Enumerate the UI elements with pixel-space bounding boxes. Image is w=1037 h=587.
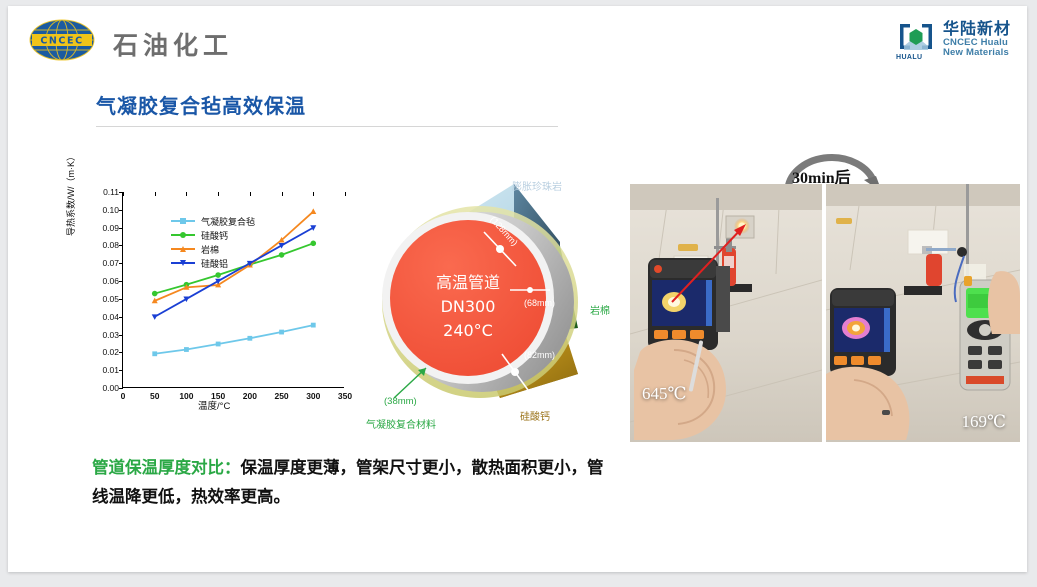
chart-data-point (152, 351, 157, 356)
chart-y-tick: 0.06 (102, 276, 119, 286)
pipe-core-line1: 高温管道 (436, 273, 500, 292)
chart-x-tick: 300 (306, 391, 320, 401)
chart-legend-label: 硅酸钙 (201, 229, 228, 242)
chart-data-point (152, 291, 158, 297)
cncec-logo-icon: CNCEC (26, 18, 98, 62)
caption-highlight: 管道保温厚度对比： (92, 459, 241, 477)
chart-x-tick: 100 (179, 391, 193, 401)
thermal-conductivity-chart: 导热系数/W/（m·K） 温度/°C 0.000.010.020.030.040… (70, 182, 358, 416)
chart-x-tick: 200 (243, 391, 257, 401)
chart-x-tick: 150 (211, 391, 225, 401)
chart-data-point (310, 208, 316, 214)
chart-legend-item: 硅酸铝 (171, 256, 255, 270)
chart-legend-label: 岩棉 (201, 243, 219, 256)
title-divider (96, 126, 558, 127)
cncec-wordmark: 石油化工 (113, 26, 233, 62)
chart-legend-swatch (171, 262, 195, 264)
chart-y-tickmark (119, 388, 123, 389)
chart-legend-swatch (171, 220, 195, 222)
layer-label-perlite: 膨胀珍珠岩 (512, 178, 562, 193)
temp-reading-after: 169℃ (961, 412, 1006, 432)
pipe-insulation-diagram: 高温管道 DN300 240°C 膨胀珍珠岩 (128mm) 岩棉 (68mm) (364, 168, 626, 430)
chart-x-tickmark (345, 192, 346, 196)
pipe-core-line3: 240°C (443, 321, 493, 340)
chart-x-tick: 0 (121, 391, 126, 401)
thermal-photo-pair: 645℃ (630, 184, 1020, 442)
svg-text:CNCEC: CNCEC (40, 36, 83, 47)
chart-y-tick: 0.05 (102, 294, 119, 304)
chart-data-point (311, 323, 316, 328)
chart-y-tick: 0.10 (102, 205, 119, 215)
layer-thickness-aerogel: (38mm) (384, 396, 417, 407)
chart-data-point (247, 336, 252, 341)
chart-plot-area: 0.000.010.020.030.040.050.060.070.080.09… (122, 192, 344, 388)
photo-before: 645℃ (630, 184, 822, 442)
chart-legend-item: 气凝胶复合毡 (171, 214, 255, 228)
layer-label-aerogel: 气凝胶复合材料 (366, 416, 436, 431)
hualu-cn-name: 华陆新材 (943, 22, 1011, 39)
chart-data-point (310, 241, 316, 247)
chart-data-point (279, 330, 284, 335)
chart-legend-swatch (171, 234, 195, 236)
chart-y-tick: 0.11 (103, 187, 119, 197)
chart-legend: 气凝胶复合毡硅酸钙岩棉硅酸铝 (171, 214, 255, 270)
chart-legend-marker (180, 260, 186, 266)
chart-data-point (216, 342, 221, 347)
chart-y-tick: 0.07 (102, 258, 119, 268)
photo-after: 169℃ (826, 184, 1020, 442)
chart-legend-marker (180, 218, 186, 224)
page-title: 气凝胶复合毡高效保温 (96, 90, 306, 119)
temp-reading-before: 645℃ (642, 384, 687, 404)
chart-legend-marker (180, 232, 186, 238)
hualu-en-line2: New Materials (943, 48, 1011, 58)
layer-label-rockwool: 岩棉 (590, 302, 610, 317)
chart-y-tick: 0.09 (102, 223, 119, 233)
chart-series-line (155, 325, 314, 354)
chart-data-point (184, 347, 189, 352)
chart-y-tick: 0.04 (102, 312, 119, 322)
summary-caption: 管道保温厚度对比：保温厚度更薄，管架尺寸更小，散热面积更小，管线温降更低，热效率… (92, 454, 612, 512)
chart-legend-swatch (171, 248, 195, 250)
chart-legend-label: 硅酸铝 (201, 257, 228, 270)
chart-y-tick: 0.02 (102, 347, 119, 357)
layer-label-calcium-silicate: 硅酸钙 (520, 408, 550, 423)
chart-y-tick: 0.03 (102, 330, 119, 340)
chart-data-point (279, 252, 285, 258)
hualu-logo: HUALU 华陆新材 CNCEC Hualu New Materials (896, 18, 1011, 62)
hualu-mark-icon: HUALU (896, 20, 936, 60)
chart-y-tick: 0.01 (102, 365, 119, 375)
chart-legend-item: 硅酸钙 (171, 228, 255, 242)
pipe-core-line2: DN300 (441, 297, 496, 316)
chart-x-tick: 50 (150, 391, 159, 401)
slide-header: CNCEC 石油化工 HUALU 华陆新材 CNCEC Hualu New Ma… (8, 6, 1027, 76)
layer-thickness-calcium-silicate: (82mm) (524, 350, 555, 360)
chart-legend-marker (180, 246, 186, 252)
chart-y-axis-label: 导热系数/W/（m·K） (64, 152, 77, 236)
pipe-diagram-graphic: 高温管道 DN300 240°C (364, 168, 626, 430)
chart-data-point (152, 314, 158, 320)
hualu-abbr-label: HUALU (896, 54, 923, 61)
chart-y-tick: 0.00 (102, 383, 119, 393)
chart-y-tick: 0.08 (102, 240, 119, 250)
slide-canvas: CNCEC 石油化工 HUALU 华陆新材 CNCEC Hualu New Ma… (8, 6, 1027, 572)
chart-x-tick: 250 (274, 391, 288, 401)
chart-data-point (215, 272, 221, 278)
chart-legend-label: 气凝胶复合毡 (201, 215, 255, 228)
layer-thickness-rockwool: (68mm) (524, 298, 555, 308)
chart-legend-item: 岩棉 (171, 242, 255, 256)
chart-x-tick: 350 (338, 391, 352, 401)
